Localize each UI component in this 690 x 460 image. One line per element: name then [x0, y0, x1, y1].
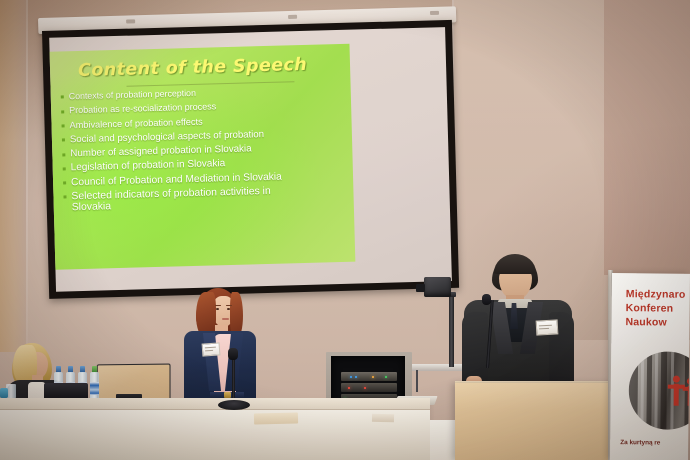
banner-title-line-1: Międzynaro — [626, 287, 690, 302]
slide-bullet-text: Ambivalence of probation effects — [69, 116, 202, 131]
screen-frame: Content of the Speech Contexts of probat… — [42, 20, 459, 299]
paper-on-table — [372, 414, 394, 422]
bullet-marker-icon — [62, 153, 65, 156]
banner-footer: Za kurtyną re — [610, 439, 688, 447]
rack-led — [372, 376, 374, 378]
banner-figure-head — [673, 376, 680, 383]
bullet-marker-icon — [62, 124, 65, 127]
slide-bullet-text: Contexts of probation perception — [69, 88, 196, 103]
slide-bullet-text: Selected indicators of probation activit… — [71, 186, 279, 214]
banner-footer-text: Za kurtyną re — [620, 439, 688, 447]
document-camera-leg — [416, 370, 418, 392]
bullet-marker-icon — [63, 167, 66, 170]
table-microphone-head — [228, 348, 238, 360]
rack-led — [348, 387, 350, 389]
slide-bullet-text: Legislation of probation in Slovakia — [71, 159, 226, 174]
banner-graphic-circle — [628, 351, 690, 430]
screen-surface: Content of the Speech Contexts of probat… — [49, 27, 452, 292]
conference-rollup-banner: Międzynaro Konferen Naukow Za kurtyną re — [610, 273, 690, 460]
rack-led — [350, 376, 352, 378]
document-camera-lens — [416, 284, 425, 292]
presenter-mouth — [222, 318, 229, 320]
podium-microphone-head — [482, 294, 491, 305]
banner-title-line-3: Naukow — [625, 315, 689, 330]
bullet-marker-icon — [63, 182, 66, 185]
presenter-eye — [216, 308, 219, 310]
presenter-name-badge — [202, 342, 221, 356]
banner-title: Międzynaro Konferen Naukow — [611, 287, 689, 330]
projection-screen-assembly: Content of the Speech Contexts of probat… — [36, 18, 456, 300]
rack-led — [385, 376, 387, 378]
banner-title-line-2: Konferen — [626, 301, 690, 316]
table-microphone-base — [218, 400, 250, 410]
bullet-marker-icon — [61, 110, 64, 113]
presenter-table-front — [0, 410, 430, 460]
projected-slide: Content of the Speech Contexts of probat… — [50, 44, 356, 270]
document-camera-head — [424, 277, 451, 297]
water-bottle — [90, 366, 99, 400]
presenter-eye — [227, 308, 230, 310]
podium-front-panel — [455, 383, 615, 460]
slide-title: Content of the Speech — [78, 55, 308, 81]
slide-bullet: Selected indicators of probation activit… — [63, 186, 279, 214]
rack-led — [364, 387, 366, 389]
slide-bullet-list: Contexts of probation perceptionProbatio… — [61, 84, 354, 217]
table-object — [0, 388, 8, 398]
bullet-marker-icon — [61, 96, 64, 99]
rack-led — [355, 376, 357, 378]
bullet-marker-icon — [62, 139, 65, 142]
paper-on-table — [254, 412, 298, 424]
conference-photo: Content of the Speech Contexts of probat… — [0, 0, 690, 460]
slide-bullet-text: Social and psychological aspects of prob… — [70, 129, 264, 145]
document-camera-pole — [449, 295, 454, 367]
bullet-marker-icon — [63, 196, 66, 199]
speaker-name-badge — [536, 319, 559, 335]
slide-bullet-text: Probation as re-socialization process — [69, 102, 216, 117]
